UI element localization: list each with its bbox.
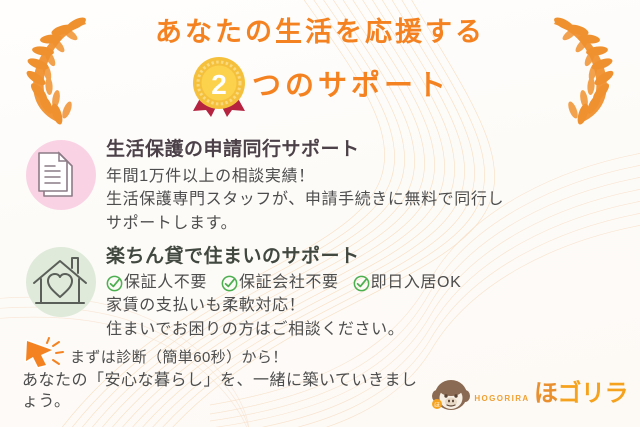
support-heading: 生活保護の申請同行サポート (106, 138, 626, 162)
gorilla-mascot-icon: ほ (431, 376, 471, 412)
logo-japanese-name: ほゴリラ (534, 380, 628, 407)
banner-header: あなたの生活を応援する 2 つのサポート (0, 16, 640, 117)
page-title-line2: つのサポート (252, 72, 450, 101)
check-circle-icon (221, 275, 238, 292)
feature-label: 保証人不要 (124, 272, 207, 295)
house-heart-icon (22, 243, 100, 323)
support-body-line: 家賃の支払いも柔軟対応！ (106, 294, 626, 318)
support-body-line: 年間1万件以上の相談実績！ (106, 165, 626, 189)
click-cursor-icon (22, 337, 68, 369)
check-circle-icon (106, 275, 123, 292)
support-item-housing: 楽ちん貸で住まいのサポート 保証人不要 (22, 243, 626, 342)
list-item: 即日入居OK (353, 272, 462, 295)
support-icon-wrapper (22, 136, 100, 216)
page-title-line1: あなたの生活を応援する (0, 16, 640, 48)
page-title-line2-row: 2 つのサポート (0, 55, 640, 117)
list-item: 保証会社不要 (221, 272, 339, 295)
footer-bottom-row: あなたの「安心な暮らし」を、一緒に築いていきましょう。 (22, 371, 628, 413)
support-icon-wrapper (22, 243, 100, 323)
list-item: 保証人不要 (106, 272, 207, 295)
support-text-block: 楽ちん貸で住まいのサポート 保証人不要 (100, 243, 626, 342)
svg-text:ほ: ほ (434, 402, 440, 409)
footer-closing-text: あなたの「安心な暮らし」を、一緒に築いていきましょう。 (22, 371, 431, 413)
support-body-line: サポートします。 (106, 212, 626, 236)
promo-banner: あなたの生活を応援する 2 つのサポート (0, 0, 640, 427)
logo-word-prefix: ほ (534, 380, 558, 407)
support-item-welfare: 生活保護の申請同行サポート 年間1万件以上の相談実績！ 生活保護専門スタッフが、… (22, 136, 626, 235)
feature-label: 保証会社不要 (239, 272, 339, 295)
check-circle-icon (353, 275, 370, 292)
support-text-block: 生活保護の申請同行サポート 年間1万件以上の相談実績！ 生活保護専門スタッフが、… (100, 136, 626, 235)
logo-word-suffix: ゴリラ (558, 380, 629, 407)
brand-logo[interactable]: ほ HOGORIRA ほゴリラ (431, 376, 628, 413)
footer-cta-text: まずは診断（簡単60秒）から！ (70, 346, 288, 369)
logo-wordmark: HOGORIRA ほゴリラ (474, 382, 628, 406)
support-feature-list: 保証人不要 保証会社不要 (106, 272, 626, 295)
support-body-line: 生活保護専門スタッフが、申請手続きに無料で同行し (106, 188, 626, 212)
documents-icon (22, 136, 100, 216)
footer-cta-row: まずは診断（簡単60秒）から！ (22, 337, 628, 369)
support-heading: 楽ちん貸で住まいのサポート (106, 245, 626, 269)
logo-romaji: HOGORIRA (474, 394, 529, 403)
medal-number: 2 (211, 69, 227, 100)
award-medal-icon: 2 (190, 55, 248, 117)
banner-footer: まずは診断（簡単60秒）から！ あなたの「安心な暮らし」を、一緒に築いていきまし… (22, 337, 628, 413)
feature-label: 即日入居OK (371, 272, 462, 295)
